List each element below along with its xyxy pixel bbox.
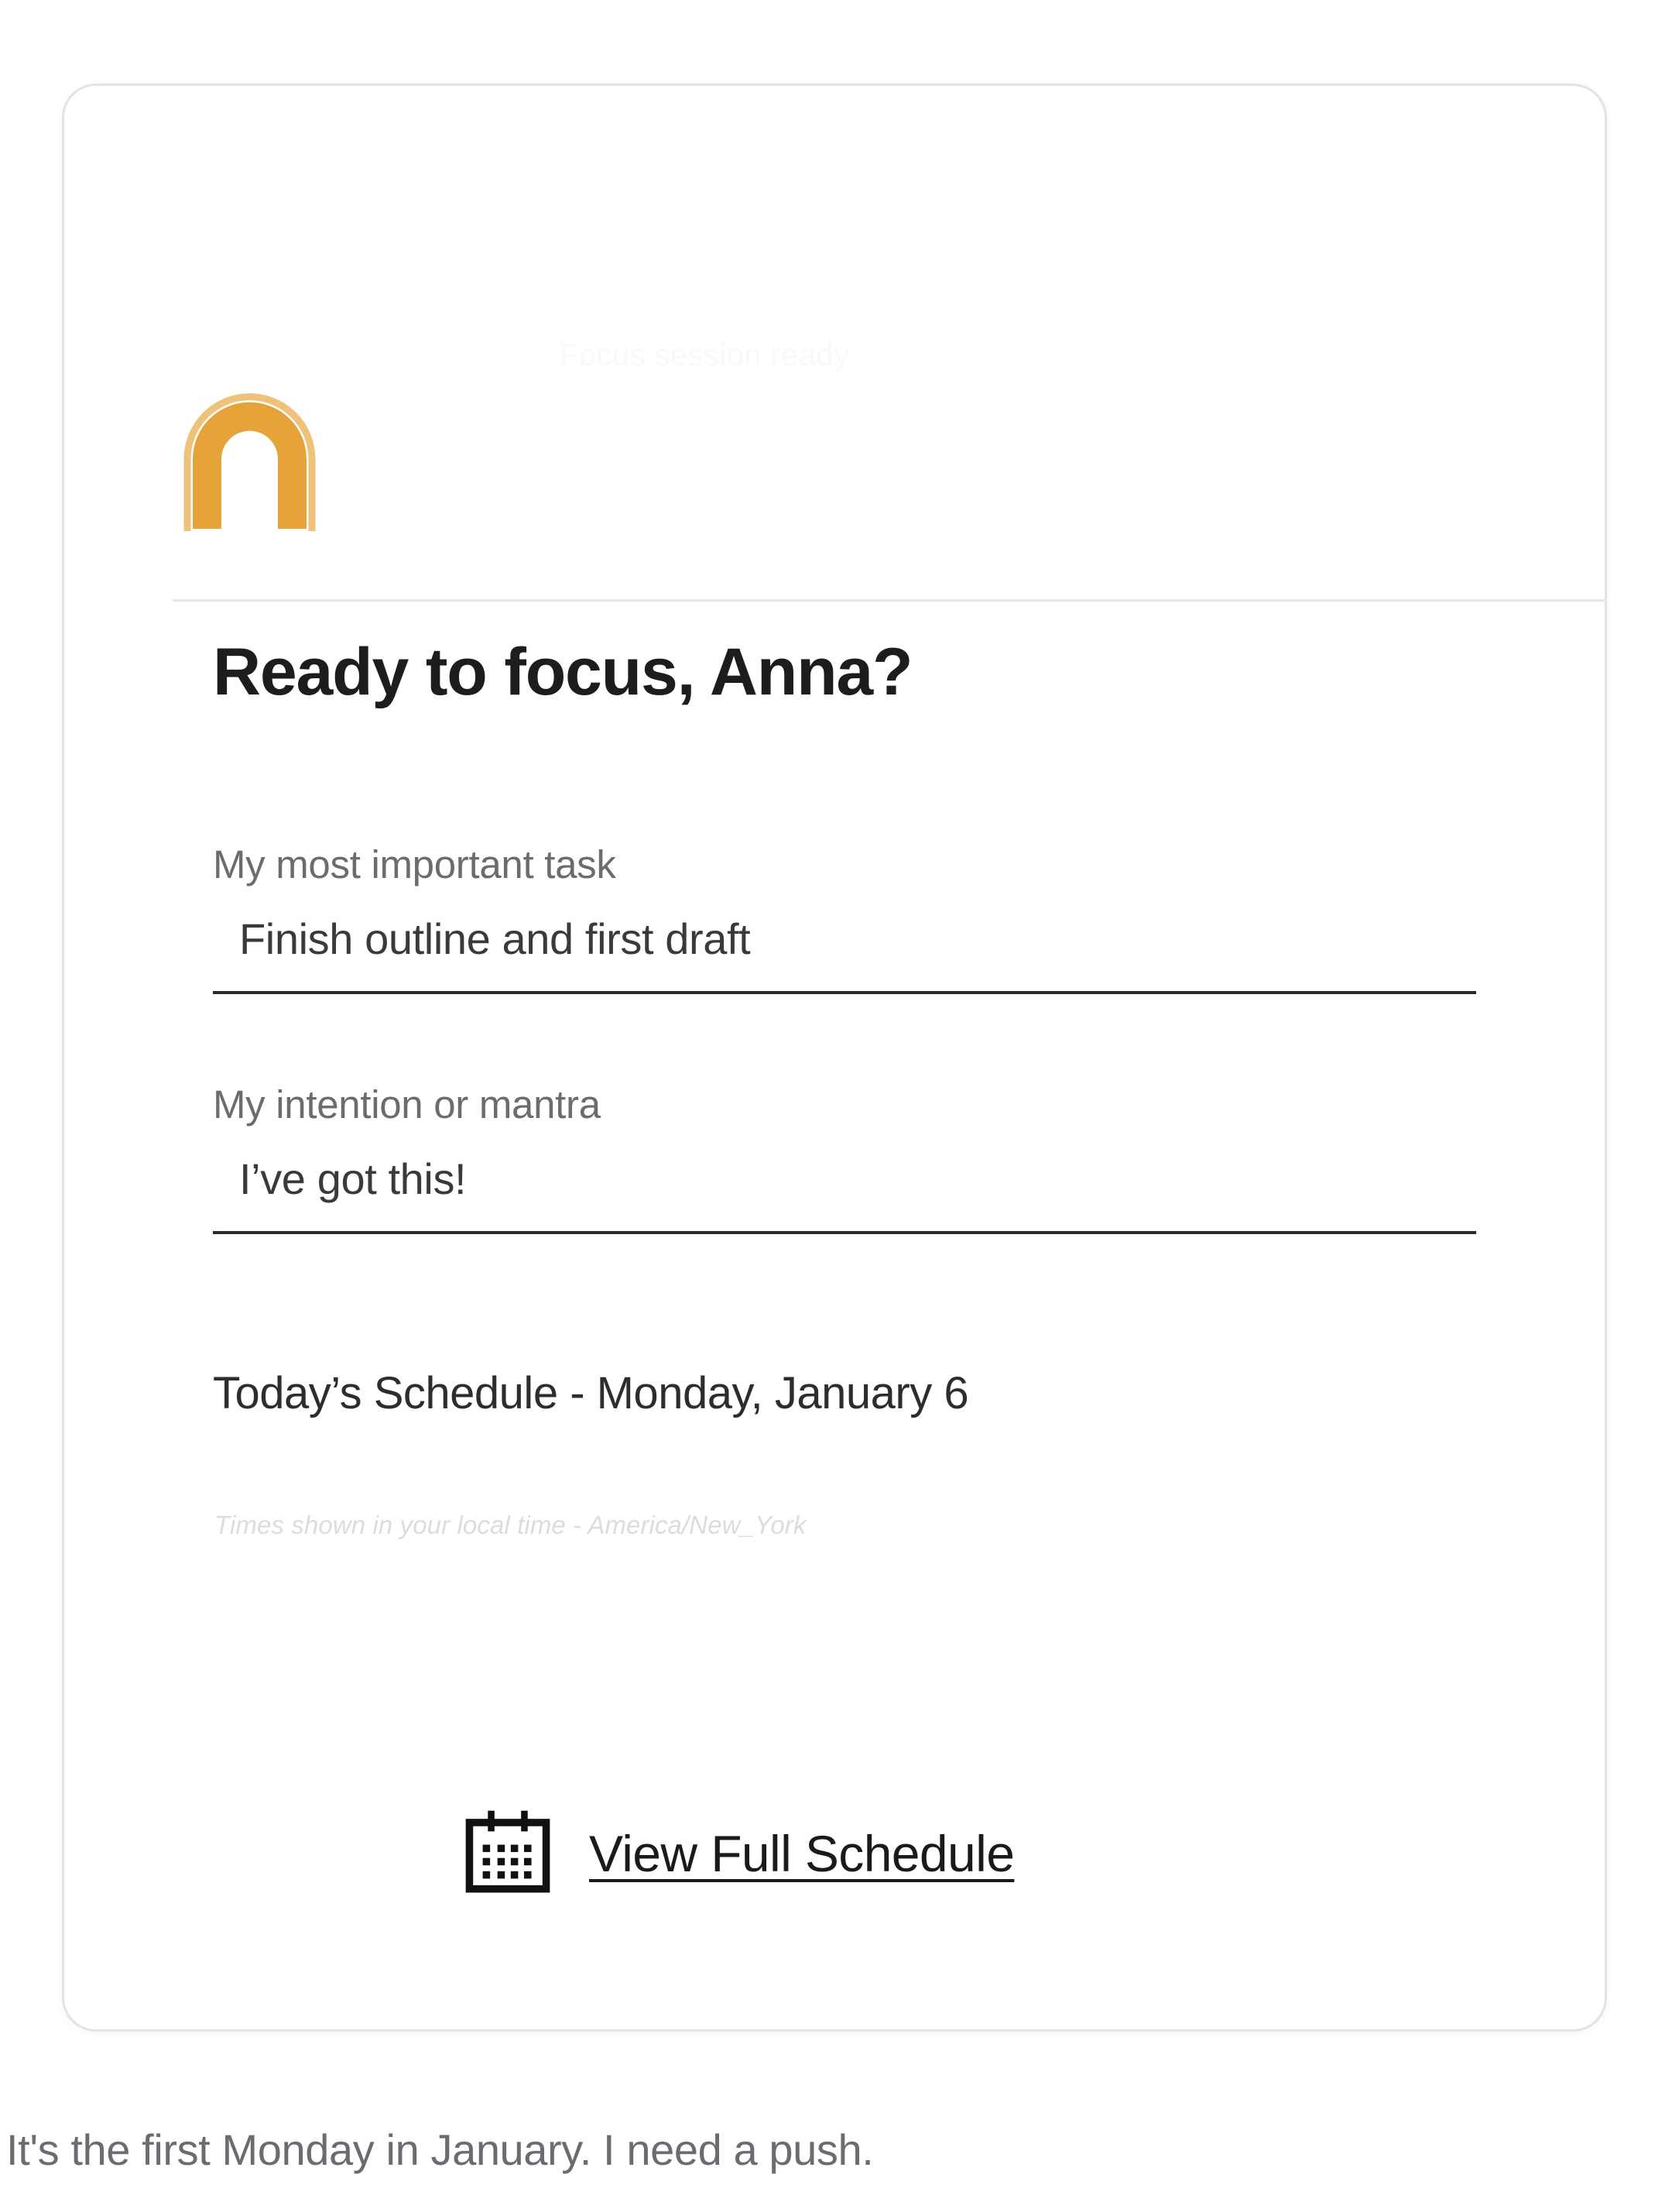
focus-card-body: Focus session ready Ready to focus, Anna…	[64, 86, 1605, 2029]
schedule-timezone-note: Times shown in your local time - America…	[214, 1511, 806, 1540]
header-divider	[173, 599, 1606, 602]
schedule-title: Today’s Schedule - Monday, January 6	[213, 1367, 968, 1419]
field-underline-task	[213, 991, 1476, 994]
field-most-important-task[interactable]: My most important task Finish outline an…	[213, 841, 1476, 994]
page-root: Focus session ready Ready to focus, Anna…	[0, 0, 1672, 2212]
calendar-icon	[461, 1806, 555, 1901]
view-full-schedule-label: View Full Schedule	[589, 1824, 1014, 1883]
schedule-event-list	[213, 1572, 1476, 1797]
field-underline-mantra	[213, 1231, 1476, 1234]
page-title: Ready to focus, Anna?	[213, 636, 912, 709]
field-value-mantra[interactable]: I’ve got this!	[213, 1153, 1476, 1205]
field-value-task[interactable]: Finish outline and first draft	[213, 913, 1476, 965]
focus-card: Focus session ready Ready to focus, Anna…	[62, 84, 1607, 2032]
view-full-schedule-link[interactable]: View Full Schedule	[461, 1806, 1014, 1901]
field-intention-mantra[interactable]: My intention or mantra I’ve got this!	[213, 1081, 1476, 1234]
ghost-header-text: Focus session ready	[560, 338, 1318, 374]
field-label-task: My most important task	[213, 841, 1476, 888]
arch-logo-icon	[182, 388, 317, 531]
field-label-mantra: My intention or mantra	[213, 1081, 1476, 1128]
page-caption: It's the first Monday in January. I need…	[6, 2123, 873, 2177]
